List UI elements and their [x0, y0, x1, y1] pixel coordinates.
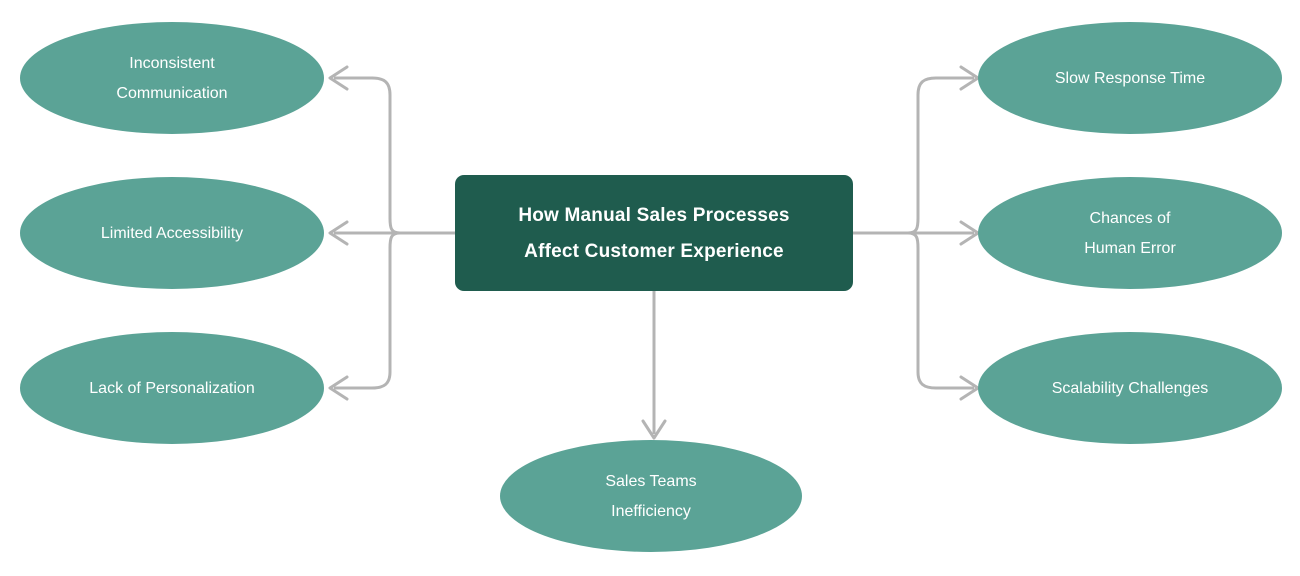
- node-label-line2: Inefficiency: [611, 503, 691, 520]
- node-label-line1: Limited Accessibility: [101, 225, 243, 242]
- node-label-line1: Chances of: [1090, 210, 1171, 227]
- node-left-inconsistent-communication[interactable]: Inconsistent Communication: [20, 22, 324, 134]
- node-label-line1: Lack of Personalization: [89, 380, 254, 397]
- node-label-line2: Human Error: [1084, 240, 1176, 257]
- connector-left-branch-1: [334, 78, 400, 233]
- node-label-line1: Inconsistent: [129, 55, 215, 72]
- node-left-lack-of-personalization[interactable]: Lack of Personalization: [20, 332, 324, 444]
- node-right-chances-of-human-error[interactable]: Chances of Human Error: [978, 177, 1282, 289]
- node-label-line1: Scalability Challenges: [1052, 380, 1209, 397]
- connector-right-branch-1: [908, 78, 974, 233]
- central-label-line2: Affect Customer Experience: [524, 241, 784, 262]
- node-ellipse-shape: [978, 177, 1282, 289]
- node-left-limited-accessibility[interactable]: Limited Accessibility: [20, 177, 324, 289]
- node-central-topic[interactable]: How Manual Sales Processes Affect Custom…: [455, 175, 853, 291]
- connector-left-branch-3: [334, 233, 400, 388]
- node-right-slow-response-time[interactable]: Slow Response Time: [978, 22, 1282, 134]
- node-ellipse-shape: [500, 440, 802, 552]
- node-bottom-sales-teams-inefficiency[interactable]: Sales Teams Inefficiency: [500, 440, 802, 552]
- node-label-line1: Slow Response Time: [1055, 70, 1205, 87]
- node-label-line2: Communication: [116, 85, 227, 102]
- node-ellipse-shape: [20, 22, 324, 134]
- node-label-line1: Sales Teams: [605, 473, 696, 490]
- central-box-shape: [455, 175, 853, 291]
- central-label-line1: How Manual Sales Processes: [518, 205, 789, 226]
- mind-map-diagram: Inconsistent Communication Limited Acces…: [0, 0, 1300, 576]
- node-right-scalability-challenges[interactable]: Scalability Challenges: [978, 332, 1282, 444]
- connector-right-branch-3: [908, 233, 974, 388]
